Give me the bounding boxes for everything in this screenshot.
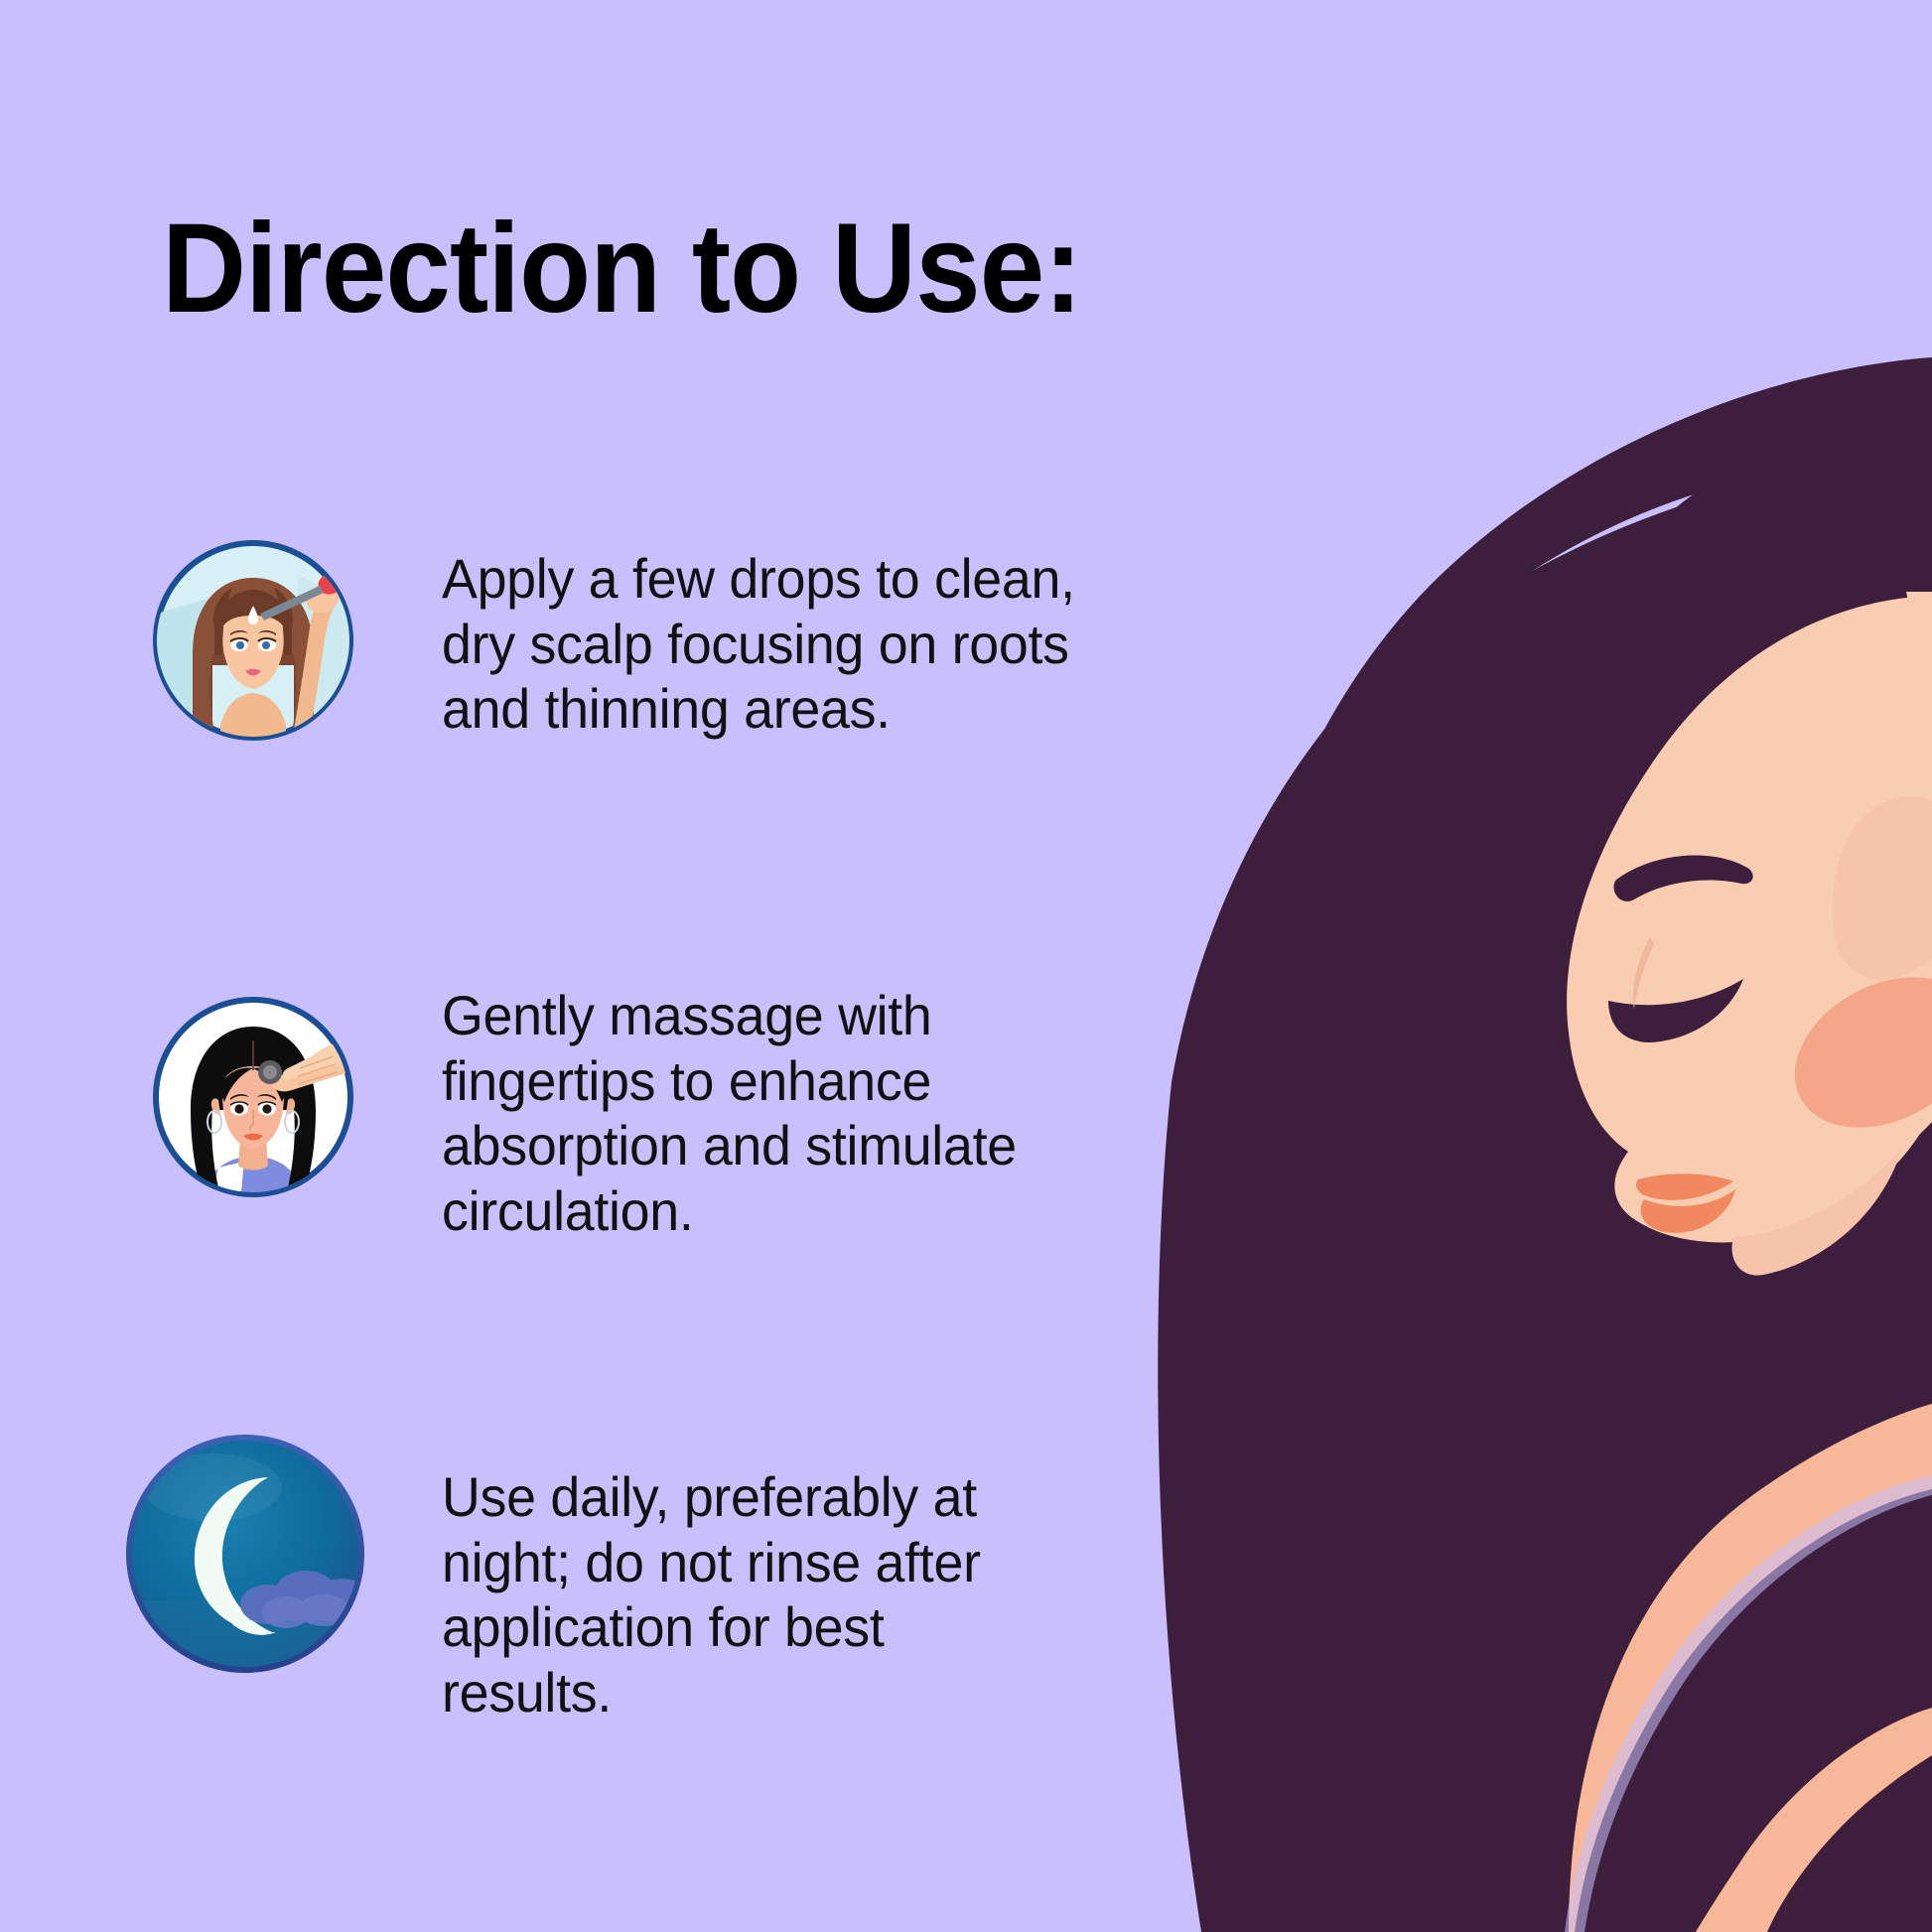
night-moon-icon <box>121 1430 369 1678</box>
infographic-canvas: Direction to Use: <box>0 0 1932 1932</box>
dropper-application-icon <box>149 536 357 745</box>
step-description: Apply a few drops to clean, dry scalp fo… <box>442 546 1109 742</box>
step-item: Gently massage with fingertips to enhanc… <box>149 993 1057 1243</box>
page-title: Direction to Use: <box>162 206 1082 333</box>
step-item: Use daily, preferably at night; do not r… <box>121 1430 1087 1725</box>
step-description: Use daily, preferably at night; do not r… <box>442 1464 1061 1725</box>
step-description: Gently massage with fingertips to enhanc… <box>442 983 1033 1243</box>
step-item: Apply a few drops to clean, dry scalp fo… <box>149 536 1137 745</box>
scalp-massage-icon <box>149 993 357 1201</box>
